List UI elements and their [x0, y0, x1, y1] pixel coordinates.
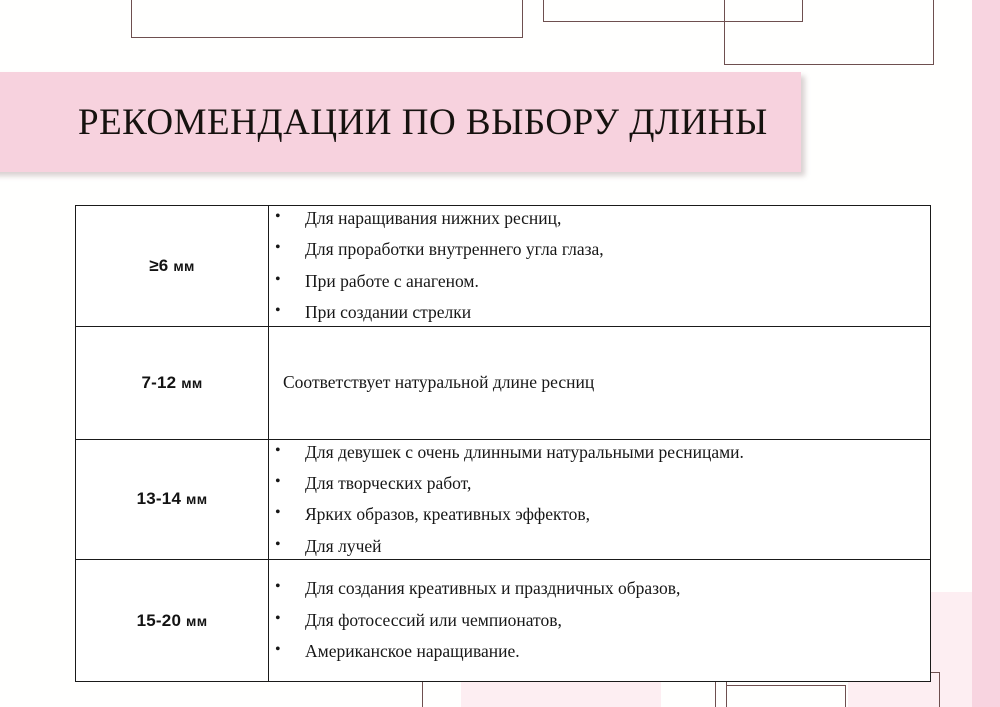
- length-range-value: ≥6: [149, 256, 168, 275]
- length-range-cell: 7-12 мм: [76, 326, 269, 439]
- list-item: •Для фотосессий или чемпионатов,: [269, 608, 930, 633]
- title-banner: РЕКОМЕНДАЦИИ ПО ВЫБОРУ ДЛИНЫ: [0, 72, 801, 172]
- detail-bullet-list: •Для создания креативных и праздничных о…: [269, 576, 930, 664]
- list-item-label: Для наращивания нижних ресниц,: [305, 208, 561, 228]
- length-range-cell: 13-14 мм: [76, 439, 269, 560]
- bullet-icon: •: [275, 268, 281, 291]
- page-title: РЕКОМЕНДАЦИИ ПО ВЫБОРУ ДЛИНЫ: [78, 101, 768, 144]
- list-item: •Ярких образов, креативных эффектов,: [269, 502, 930, 527]
- bullet-icon: •: [275, 501, 281, 524]
- decorative-frame-top-left: [131, 0, 523, 38]
- length-range-cell: 15-20 мм: [76, 560, 269, 682]
- list-item: •При создании стрелки: [269, 300, 930, 325]
- decorative-pink-stripe-right: [972, 0, 1000, 707]
- bullet-icon: •: [275, 299, 281, 322]
- length-range-value: 7-12: [141, 373, 176, 392]
- list-item: •При работе с анагеном.: [269, 269, 930, 294]
- table-row: ≥6 мм •Для наращивания нижних ресниц, •Д…: [76, 206, 931, 327]
- bullet-icon: •: [275, 607, 281, 630]
- slide-canvas: РЕКОМЕНДАЦИИ ПО ВЫБОРУ ДЛИНЫ ≥6 мм •Для …: [0, 0, 1000, 707]
- list-item-label: Для девушек с очень длинными натуральным…: [305, 442, 744, 462]
- length-range-unit: мм: [186, 491, 207, 507]
- length-range-unit: мм: [181, 375, 202, 391]
- bullet-icon: •: [275, 439, 281, 462]
- decorative-frame-bottom-left: [422, 678, 727, 707]
- list-item-label: Для фотосессий или чемпионатов,: [305, 610, 562, 630]
- length-recommendation-table: ≥6 мм •Для наращивания нижних ресниц, •Д…: [75, 205, 931, 682]
- table-row: 13-14 мм •Для девушек с очень длинными н…: [76, 439, 931, 560]
- length-detail-cell: Соответствует натуральной длине ресниц: [269, 326, 931, 439]
- list-item-label: Для лучей: [305, 536, 382, 556]
- bullet-icon: •: [275, 205, 281, 228]
- detail-bullet-list: •Для наращивания нижних ресниц, •Для про…: [269, 206, 930, 326]
- length-range-value: 15-20: [137, 611, 181, 630]
- length-range-value: 13-14: [137, 489, 181, 508]
- bullet-icon: •: [275, 236, 281, 259]
- list-item-label: Для творческих работ,: [305, 473, 471, 493]
- decorative-frame-top-right-inner: [724, 0, 934, 65]
- bullet-icon: •: [275, 638, 281, 661]
- detail-text: Соответствует натуральной длине ресниц: [283, 372, 594, 392]
- detail-bullet-list: •Для девушек с очень длинными натуральны…: [269, 440, 930, 560]
- list-item: •Для создания креативных и праздничных о…: [269, 576, 930, 601]
- length-detail-cell: •Для наращивания нижних ресниц, •Для про…: [269, 206, 931, 327]
- bullet-icon: •: [275, 533, 281, 556]
- length-range-cell: ≥6 мм: [76, 206, 269, 327]
- table-row: 15-20 мм •Для создания креативных и праз…: [76, 560, 931, 682]
- length-detail-cell: •Для девушек с очень длинными натуральны…: [269, 439, 931, 560]
- list-item: •Для девушек с очень длинными натуральны…: [269, 440, 930, 465]
- list-item-label: Ярких образов, креативных эффектов,: [305, 504, 590, 524]
- list-item: •Американское наращивание.: [269, 639, 930, 664]
- table-row: 7-12 мм Соответствует натуральной длине …: [76, 326, 931, 439]
- bullet-icon: •: [275, 575, 281, 598]
- length-detail-cell: •Для создания креативных и праздничных о…: [269, 560, 931, 682]
- list-item: •Для творческих работ,: [269, 471, 930, 496]
- list-item: •Для проработки внутреннего угла глаза,: [269, 237, 930, 262]
- length-range-unit: мм: [173, 258, 194, 274]
- decorative-frame-bottom-right-inner: [726, 685, 846, 707]
- list-item: •Для наращивания нижних ресниц,: [269, 206, 930, 231]
- bullet-icon: •: [275, 470, 281, 493]
- list-item-label: Американское наращивание.: [305, 641, 520, 661]
- length-range-unit: мм: [186, 613, 207, 629]
- list-item-label: При работе с анагеном.: [305, 271, 479, 291]
- list-item: •Для лучей: [269, 534, 930, 559]
- list-item-label: При создании стрелки: [305, 302, 471, 322]
- list-item-label: Для проработки внутреннего угла глаза,: [305, 239, 604, 259]
- list-item-label: Для создания креативных и праздничных об…: [305, 578, 680, 598]
